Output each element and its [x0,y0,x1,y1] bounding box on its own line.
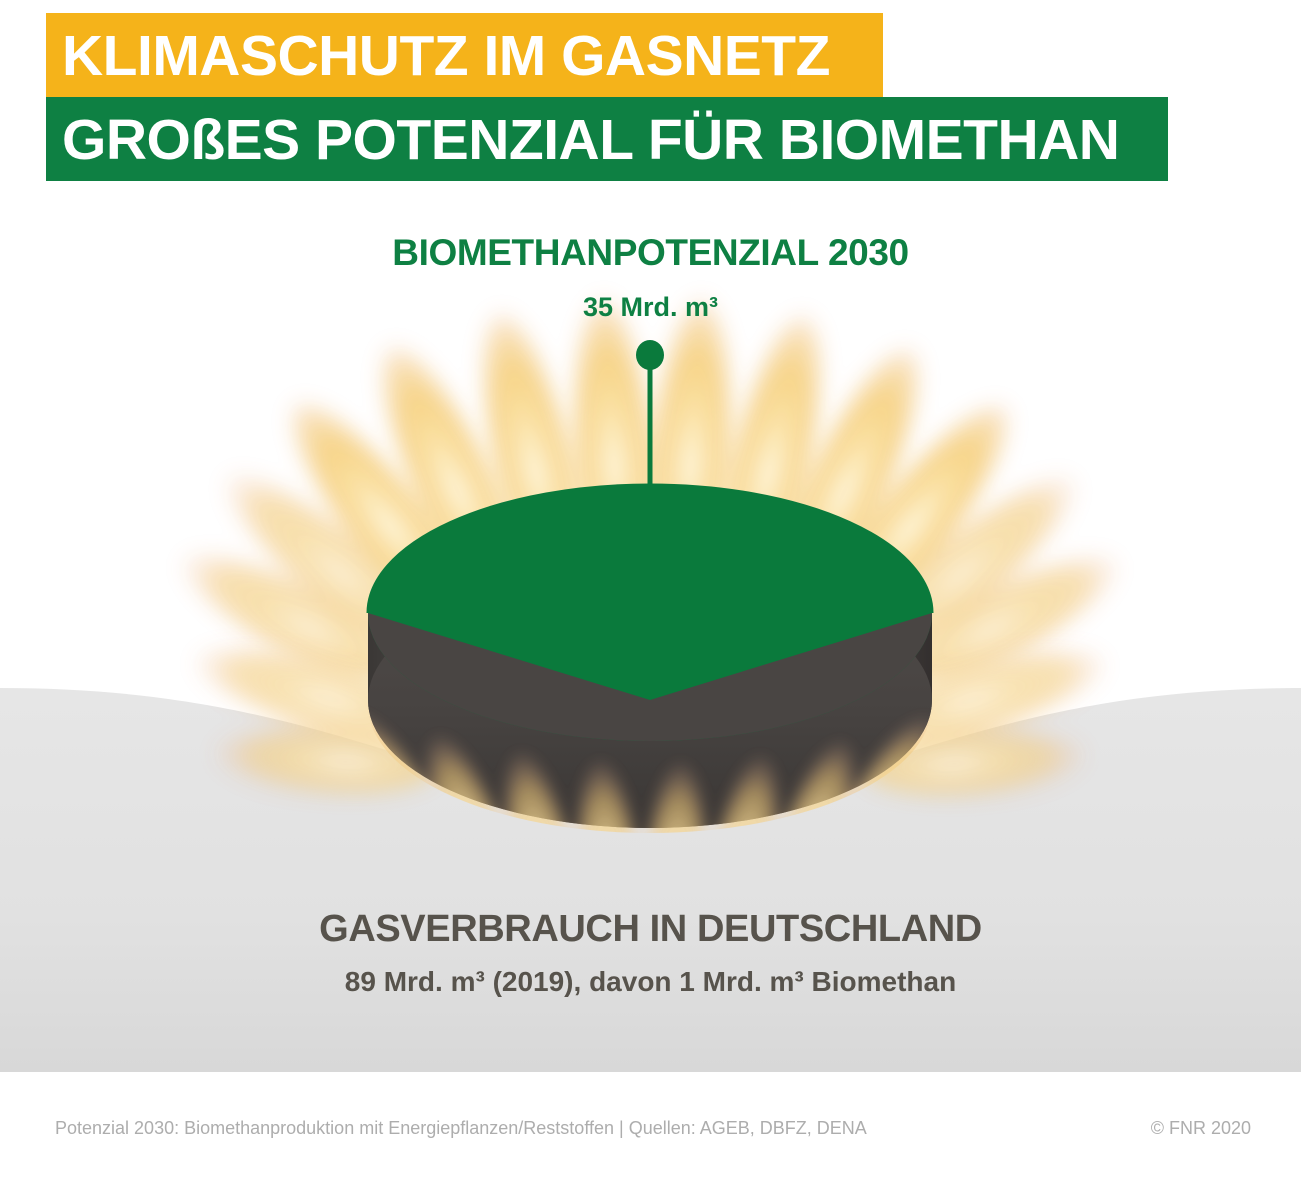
infographic-canvas: KLIMASCHUTZ IM GASNETZ GROßES POTENZIAL … [0,0,1301,1200]
biomethane-potential-title: BIOMETHANPOTENZIAL 2030 [0,232,1301,274]
banner-headline-2: GROßES POTENZIAL FÜR BIOMETHAN [62,110,1119,170]
biomethane-potential-value: 35 Mrd. m³ [0,292,1301,323]
footer-source-note: Potenzial 2030: Biomethanproduktion mit … [55,1118,867,1139]
footer-copyright: © FNR 2020 [1151,1118,1251,1139]
banner-headline-1: KLIMASCHUTZ IM GASNETZ [62,26,830,86]
gas-consumption-value: 89 Mrd. m³ (2019), davon 1 Mrd. m³ Biome… [0,966,1301,998]
gas-consumption-title: GASVERBRAUCH IN DEUTSCHLAND [0,908,1301,951]
